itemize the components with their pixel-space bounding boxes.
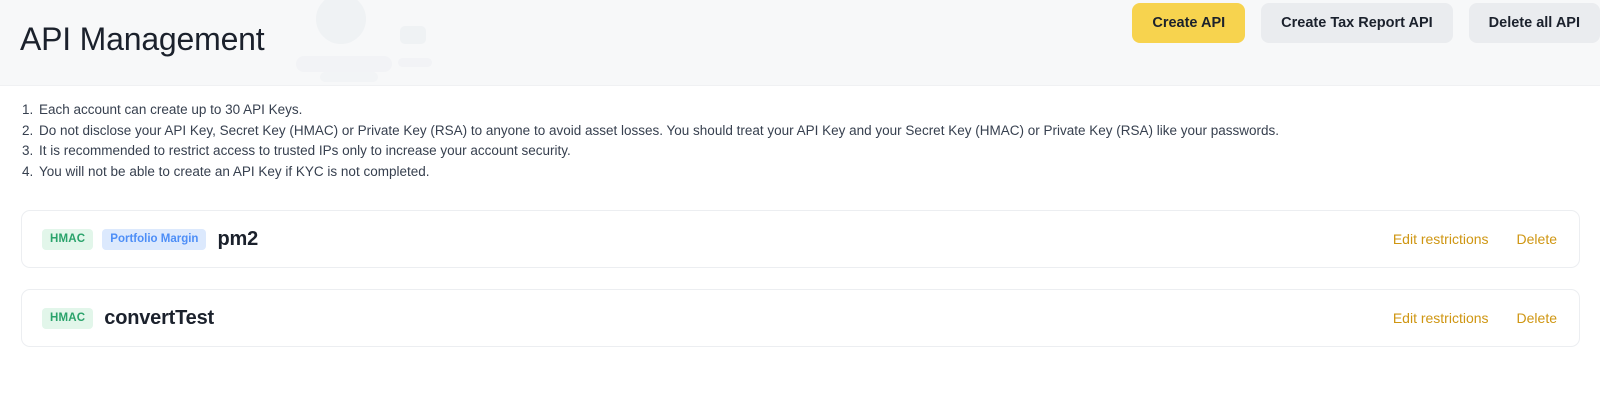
note-number: 2. — [22, 121, 39, 142]
delete-api-key-link[interactable]: Delete — [1517, 231, 1557, 247]
note-number: 4. — [22, 162, 39, 183]
api-key-card: HMACconvertTestEdit restrictionsDelete — [21, 289, 1580, 347]
api-key-actions: Edit restrictionsDelete — [1393, 290, 1557, 346]
note-item: 4.You will not be able to create an API … — [22, 162, 1600, 183]
create-api-button[interactable]: Create API — [1132, 3, 1245, 43]
create-tax-report-api-button[interactable]: Create Tax Report API — [1261, 3, 1453, 43]
header-actions: Create APICreate Tax Report APIDelete al… — [1132, 3, 1600, 43]
decorative-circle-icon — [316, 0, 366, 44]
api-key-card: HMACPortfolio Marginpm2Edit restrictions… — [21, 210, 1580, 268]
decorative-rect-icon — [400, 26, 426, 44]
decorative-blob-icon — [296, 56, 392, 72]
decorative-blob-icon — [320, 72, 378, 82]
badge-hmac: HMAC — [42, 229, 93, 250]
note-text: It is recommended to restrict access to … — [39, 141, 571, 162]
decorative-blob-icon — [398, 58, 432, 67]
note-item: 1.Each account can create up to 30 API K… — [22, 100, 1600, 121]
edit-restrictions-link[interactable]: Edit restrictions — [1393, 310, 1489, 326]
api-key-info: HMACconvertTest — [42, 290, 214, 346]
page-title: API Management — [20, 21, 264, 58]
api-key-name: pm2 — [217, 228, 258, 251]
delete-all-api-button[interactable]: Delete all API — [1469, 3, 1600, 43]
note-number: 1. — [22, 100, 39, 121]
api-key-actions: Edit restrictionsDelete — [1393, 211, 1557, 267]
note-text: You will not be able to create an API Ke… — [39, 162, 429, 183]
edit-restrictions-link[interactable]: Edit restrictions — [1393, 231, 1489, 247]
notes-list: 1.Each account can create up to 30 API K… — [0, 86, 1600, 182]
delete-api-key-link[interactable]: Delete — [1517, 310, 1557, 326]
note-number: 3. — [22, 141, 39, 162]
api-key-info: HMACPortfolio Marginpm2 — [42, 211, 258, 267]
note-text: Each account can create up to 30 API Key… — [39, 100, 302, 121]
note-text: Do not disclose your API Key, Secret Key… — [39, 121, 1279, 142]
api-key-name: convertTest — [104, 307, 214, 330]
page-header: API Management Create APICreate Tax Repo… — [0, 0, 1600, 86]
note-item: 3.It is recommended to restrict access t… — [22, 141, 1600, 162]
note-item: 2.Do not disclose your API Key, Secret K… — [22, 121, 1600, 142]
badge-hmac: HMAC — [42, 308, 93, 329]
badge-portfolio-margin: Portfolio Margin — [102, 229, 206, 250]
api-keys-list: HMACPortfolio Marginpm2Edit restrictions… — [0, 210, 1600, 347]
